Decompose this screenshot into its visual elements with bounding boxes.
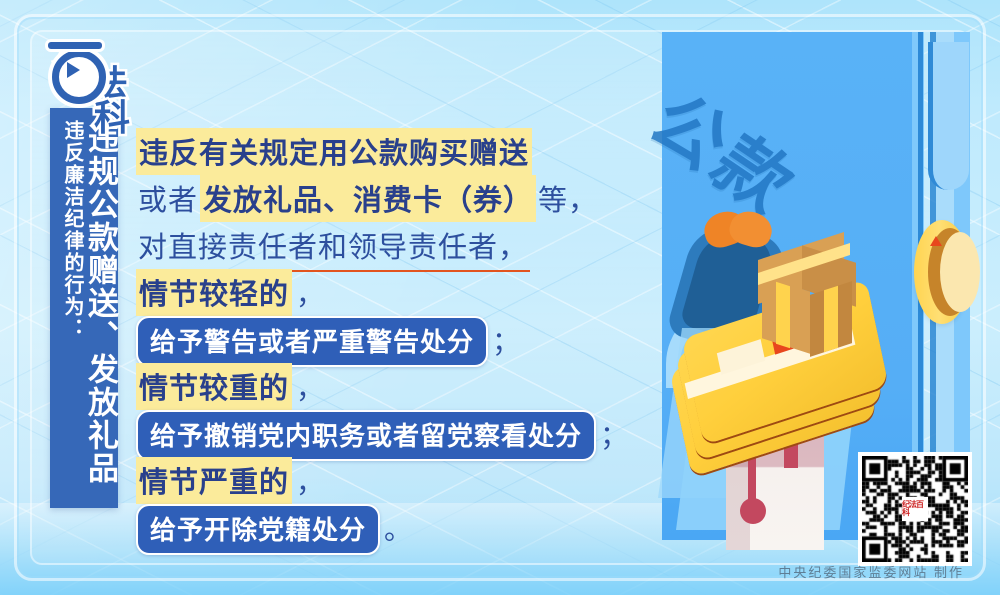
safe-vault-dial-face	[940, 232, 980, 312]
line2-trailing: 等，	[536, 175, 600, 221]
logo-top-bar-shape	[48, 42, 102, 49]
line4-trailing: ，	[292, 273, 324, 313]
regulation-text-block: 违反有关规定用公款购买赠送 或者 发放礼品、消费卡（券） 等， 对直接责任者和领…	[136, 128, 656, 551]
banner-category-label: 违反廉洁纪律的行为：	[62, 120, 82, 340]
regulation-line-1: 违反有关规定用公款购买赠送	[136, 128, 656, 174]
regulation-line-3: 对直接责任者和领导责任者，	[136, 222, 656, 268]
line7-trailing: ；	[596, 414, 628, 454]
footer-credit: 中央纪委国家监委网站 制作	[778, 562, 964, 581]
line4-highlight: 情节较轻的	[136, 269, 292, 316]
milk-carton-dot	[740, 498, 766, 524]
safe-vault-handle	[928, 42, 969, 190]
line1-highlight: 违反有关规定用公款购买赠送	[136, 128, 532, 175]
penalty-pill-light: 给予警告或者严重警告处分	[136, 316, 488, 367]
gift-box	[758, 236, 868, 346]
play-icon	[67, 62, 80, 78]
gift-ribbon-side	[824, 286, 838, 353]
regulation-line-6: 情节较重的 ，	[136, 363, 656, 409]
line8-highlight: 情节严重的	[136, 457, 292, 504]
line5-trailing: ；	[488, 320, 520, 360]
dial-marker-triangle-icon	[930, 236, 942, 246]
regulation-line-9: 给予开除党籍处分 。	[136, 504, 656, 550]
line6-trailing: ，	[292, 367, 324, 407]
penalty-pill-severe: 给予开除党籍处分	[136, 504, 380, 555]
regulation-line-5: 给予警告或者严重警告处分 ；	[136, 316, 656, 362]
poster-canvas: 公款	[0, 0, 1000, 595]
line9-trailing: 。	[380, 508, 412, 548]
line6-highlight: 情节较重的	[136, 363, 292, 410]
line8-trailing: ，	[292, 461, 324, 501]
brand-logo[interactable]: 纪 法 科	[52, 50, 148, 136]
category-banner: 违反廉洁纪律的行为： 违规公款赠送、发放礼品	[50, 108, 118, 508]
line3-underlined: 对直接责任者和领导责任者，	[136, 222, 530, 272]
qr-center-logo: 纪法百科	[902, 497, 928, 521]
banner-topic-label: 违规公款赠送、发放礼品	[84, 122, 116, 485]
line2-prefix: 或者	[136, 175, 200, 221]
logo-char-ke: 科	[94, 100, 130, 136]
regulation-line-7: 给予撤销党内职务或者留党察看处分 ；	[136, 410, 656, 456]
line2-highlight: 发放礼品、消费卡（券）	[200, 175, 536, 222]
penalty-pill-medium: 给予撤销党内职务或者留党察看处分	[136, 410, 596, 461]
regulation-line-2: 或者 发放礼品、消费卡（券） 等，	[136, 175, 656, 221]
regulation-line-4: 情节较轻的 ，	[136, 269, 656, 315]
regulation-line-8: 情节严重的 ，	[136, 457, 656, 503]
qr-code-container[interactable]: 纪法百科	[858, 452, 972, 566]
gift-ribbon-front	[776, 282, 790, 349]
